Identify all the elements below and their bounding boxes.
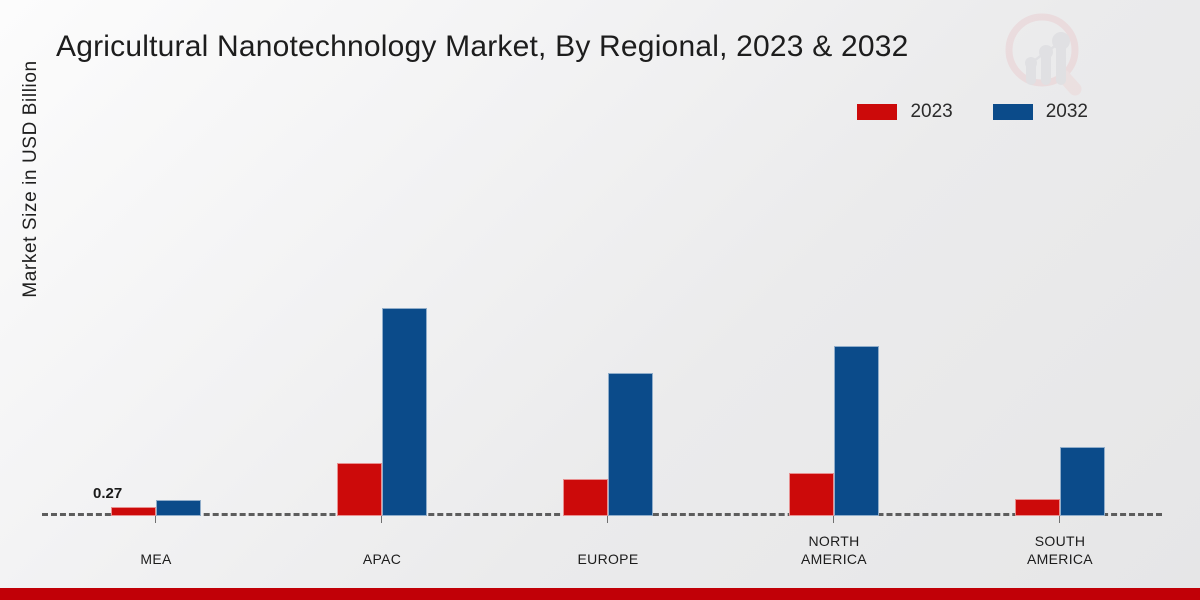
bar-2023-north-america[interactable] <box>789 473 834 516</box>
bar-group-south-america: SOUTH AMERICA <box>1014 130 1106 516</box>
bar-2023-europe[interactable] <box>563 479 608 516</box>
bar-2023-mea[interactable] <box>111 507 156 516</box>
bar-2023-south-america[interactable] <box>1015 499 1060 516</box>
bar-2032-north-america[interactable] <box>834 346 879 516</box>
bar-group-europe: EUROPE <box>562 130 654 516</box>
x-label-europe-line1: EUROPE <box>538 550 678 568</box>
x-label-apac-line1: APAC <box>312 550 452 568</box>
bar-2032-south-america[interactable] <box>1060 447 1105 516</box>
y-axis-title: Market Size in USD Billion <box>20 4 42 354</box>
plot-area: 0.27 MEA APAC EUROPE <box>42 130 1162 516</box>
red-accent-bar <box>0 588 1200 600</box>
legend-swatch-red <box>857 104 897 120</box>
x-label-north-america-line2: AMERICA <box>764 550 904 568</box>
x-tick-mea <box>155 516 156 523</box>
x-label-europe: EUROPE <box>538 550 678 568</box>
x-tick-south-america <box>1059 516 1060 523</box>
chart-legend: 2023 2032 <box>857 102 1088 121</box>
bar-group-north-america: NORTH AMERICA <box>788 130 880 516</box>
bar-2032-europe[interactable] <box>608 373 653 516</box>
bar-2023-apac[interactable] <box>337 463 382 516</box>
legend-item-2032[interactable]: 2032 <box>993 102 1088 121</box>
page-title: Agricultural Nanotechnology Market, By R… <box>56 30 909 64</box>
legend-swatch-blue <box>993 104 1033 120</box>
bar-2032-mea[interactable] <box>156 500 201 516</box>
x-label-mea-line1: MEA <box>86 550 226 568</box>
x-tick-europe <box>607 516 608 523</box>
chart-canvas: Agricultural Nanotechnology Market, By R… <box>0 0 1200 600</box>
x-label-south-america-line2: AMERICA <box>990 550 1130 568</box>
bar-2032-apac[interactable] <box>382 308 427 516</box>
x-label-south-america: SOUTH AMERICA <box>990 532 1130 568</box>
legend-label-2023: 2023 <box>910 102 952 121</box>
x-label-north-america-line1: NORTH <box>764 532 904 550</box>
legend-item-2023[interactable]: 2023 <box>857 102 952 121</box>
x-tick-north-america <box>833 516 834 523</box>
x-label-north-america: NORTH AMERICA <box>764 532 904 568</box>
bar-group-mea: 0.27 MEA <box>110 130 202 516</box>
data-label-mea-2023: 0.27 <box>93 485 122 502</box>
x-label-south-america-line1: SOUTH <box>990 532 1130 550</box>
x-label-mea: MEA <box>86 550 226 568</box>
magnifier-bar-chart-logo-watermark <box>1000 8 1096 104</box>
x-tick-apac <box>381 516 382 523</box>
bar-group-apac: APAC <box>336 130 428 516</box>
x-label-apac: APAC <box>312 550 452 568</box>
legend-label-2032: 2032 <box>1046 102 1088 121</box>
